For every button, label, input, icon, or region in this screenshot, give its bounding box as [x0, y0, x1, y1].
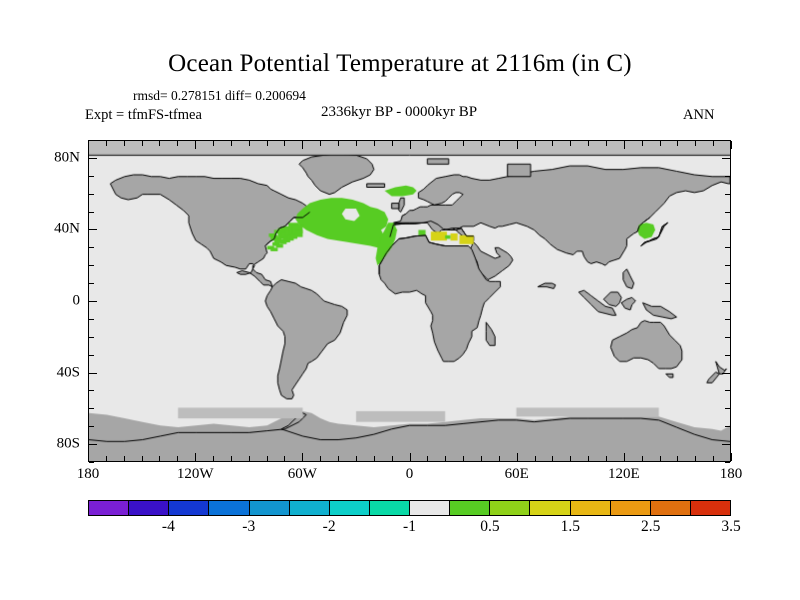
x-axis-tick — [106, 141, 107, 146]
x-axis-tick — [481, 141, 482, 146]
y-axis-tick — [89, 426, 94, 427]
colorbar-segment — [129, 501, 169, 515]
y-axis-tick — [722, 229, 730, 230]
y-axis-tick — [725, 176, 730, 177]
x-axis-tick — [642, 141, 643, 146]
x-axis-tick — [106, 456, 107, 461]
x-axis-tick — [124, 141, 125, 146]
y-axis-tick — [89, 212, 94, 213]
x-axis-tick — [570, 141, 571, 146]
y-axis-tick — [725, 212, 730, 213]
x-axis-tick — [410, 141, 411, 149]
x-axis-tick — [713, 456, 714, 461]
map-plot-area — [88, 140, 731, 462]
x-axis-tick — [588, 456, 589, 461]
colorbar-segment — [330, 501, 370, 515]
y-axis-tick — [89, 229, 97, 230]
x-axis-tick — [588, 141, 589, 146]
x-axis-label: 120E — [608, 466, 640, 483]
x-axis-tick — [213, 141, 214, 146]
x-axis-tick — [535, 456, 536, 461]
x-axis-tick — [356, 141, 357, 146]
x-axis-tick — [695, 456, 696, 461]
season-annotation: ANN — [683, 107, 714, 124]
y-axis-tick — [89, 373, 97, 374]
x-axis-tick — [231, 456, 232, 461]
x-axis-tick — [356, 456, 357, 461]
y-axis-tick — [89, 158, 97, 159]
y-axis-tick — [722, 158, 730, 159]
y-axis-tick — [725, 355, 730, 356]
x-axis-tick — [267, 141, 268, 146]
y-axis-label: 80N — [54, 149, 80, 166]
y-axis-tick — [725, 337, 730, 338]
colorbar-segment — [209, 501, 249, 515]
experiment-annotation: Expt = tfmFS-tfmea — [85, 107, 202, 124]
x-axis-tick — [410, 453, 411, 461]
x-axis-tick — [642, 456, 643, 461]
colorbar-segment — [370, 501, 410, 515]
y-axis-tick — [725, 194, 730, 195]
colorbar-segment — [530, 501, 570, 515]
y-axis-tick — [89, 301, 97, 302]
x-axis-tick — [142, 141, 143, 146]
x-axis-tick — [249, 141, 250, 146]
x-axis-label: 60E — [505, 466, 529, 483]
y-axis-tick — [725, 265, 730, 266]
x-axis-tick — [392, 141, 393, 146]
x-axis-label: 120W — [177, 466, 214, 483]
x-axis-tick — [606, 141, 607, 146]
x-axis-tick — [320, 141, 321, 146]
y-axis-tick — [89, 283, 94, 284]
colorbar-segment — [571, 501, 611, 515]
x-axis-tick — [195, 453, 196, 461]
x-axis-tick — [624, 141, 625, 149]
x-axis-tick — [284, 456, 285, 461]
colorbar-tick-label: -2 — [323, 518, 336, 536]
x-axis-tick — [535, 141, 536, 146]
period-annotation: 2336kyr BP - 0000kyr BP — [321, 104, 477, 121]
y-axis-tick — [89, 194, 94, 195]
x-axis-tick — [445, 456, 446, 461]
colorbar-tick-label: 3.5 — [721, 518, 740, 536]
y-axis-tick — [89, 319, 94, 320]
x-axis-tick — [249, 456, 250, 461]
x-axis-tick — [302, 141, 303, 149]
y-axis-label: 0 — [73, 293, 81, 310]
x-axis-tick — [338, 456, 339, 461]
x-axis-tick — [159, 456, 160, 461]
x-axis-tick — [284, 141, 285, 146]
x-axis-tick — [677, 456, 678, 461]
x-axis-tick — [731, 453, 732, 461]
x-axis-tick — [427, 141, 428, 146]
y-axis-label: 80S — [57, 436, 80, 453]
x-axis-tick — [552, 141, 553, 146]
map-canvas — [89, 141, 730, 461]
x-axis-tick — [231, 141, 232, 146]
x-axis-tick — [731, 141, 732, 149]
x-axis-tick — [517, 453, 518, 461]
x-axis-tick — [177, 141, 178, 146]
x-axis-tick — [517, 141, 518, 149]
y-axis-tick — [725, 408, 730, 409]
y-axis-tick — [725, 426, 730, 427]
x-axis-label: 180 — [77, 466, 100, 483]
colorbar-tick-label: 0.5 — [480, 518, 499, 536]
x-axis-tick — [677, 141, 678, 146]
x-axis-tick — [124, 456, 125, 461]
colorbar-tick-label: -4 — [162, 518, 175, 536]
y-axis-tick — [89, 355, 94, 356]
colorbar — [88, 500, 731, 516]
y-axis-tick — [89, 337, 94, 338]
y-axis-tick — [725, 247, 730, 248]
colorbar-segment — [611, 501, 651, 515]
y-axis-tick — [725, 283, 730, 284]
x-axis-tick — [463, 456, 464, 461]
x-axis-tick — [177, 456, 178, 461]
x-axis-tick — [392, 456, 393, 461]
x-axis-tick — [570, 456, 571, 461]
colorbar-segment — [89, 501, 129, 515]
y-axis-tick — [725, 140, 730, 141]
x-axis-tick — [338, 141, 339, 146]
x-axis-tick — [374, 141, 375, 146]
x-axis-tick — [213, 456, 214, 461]
x-axis-tick — [88, 453, 89, 461]
x-axis-tick — [267, 456, 268, 461]
colorbar-segment — [651, 501, 691, 515]
x-axis-tick — [374, 456, 375, 461]
y-axis-tick — [89, 444, 97, 445]
y-axis-tick — [89, 265, 94, 266]
y-axis-label: 40N — [54, 221, 80, 238]
colorbar-segment — [490, 501, 530, 515]
x-axis-tick — [481, 456, 482, 461]
colorbar-tick-label: 1.5 — [561, 518, 580, 536]
colorbar-strip — [88, 500, 731, 516]
y-axis-tick — [725, 462, 730, 463]
y-axis-tick — [89, 247, 94, 248]
x-axis-tick — [552, 456, 553, 461]
y-axis-tick — [89, 140, 94, 141]
y-axis-label: 40S — [57, 364, 80, 381]
y-axis-tick — [89, 408, 94, 409]
page-title: Ocean Potential Temperature at 2116m (in… — [0, 50, 800, 78]
colorbar-segment — [410, 501, 450, 515]
colorbar-tick-label: -3 — [242, 518, 255, 536]
colorbar-segment — [169, 501, 209, 515]
x-axis-tick — [463, 141, 464, 146]
y-axis-tick — [89, 462, 94, 463]
x-axis-tick — [499, 456, 500, 461]
y-axis-tick — [89, 176, 94, 177]
x-axis-tick — [88, 141, 89, 149]
x-axis-label: 0 — [406, 466, 414, 483]
x-axis-tick — [499, 141, 500, 146]
y-axis-tick — [725, 319, 730, 320]
x-axis-tick — [660, 456, 661, 461]
x-axis-tick — [159, 141, 160, 146]
colorbar-segment — [290, 501, 330, 515]
x-axis-tick — [320, 456, 321, 461]
colorbar-segment — [691, 501, 730, 515]
x-axis-tick — [195, 141, 196, 149]
x-axis-tick — [713, 141, 714, 146]
colorbar-segment — [250, 501, 290, 515]
x-axis-tick — [624, 453, 625, 461]
y-axis-tick — [722, 301, 730, 302]
y-axis-tick — [89, 390, 94, 391]
x-axis-tick — [302, 453, 303, 461]
colorbar-tick-label: -1 — [403, 518, 416, 536]
y-axis-tick — [725, 390, 730, 391]
y-axis-tick — [722, 373, 730, 374]
x-axis-tick — [695, 141, 696, 146]
x-axis-tick — [606, 456, 607, 461]
x-axis-label: 60W — [288, 466, 317, 483]
x-axis-tick — [142, 456, 143, 461]
colorbar-segment — [450, 501, 490, 515]
x-axis-tick — [427, 456, 428, 461]
x-axis-tick — [445, 141, 446, 146]
x-axis-label: 180 — [720, 466, 743, 483]
y-axis-tick — [722, 444, 730, 445]
colorbar-tick-label: 2.5 — [641, 518, 660, 536]
rmsd-annotation: rmsd= 0.278151 diff= 0.200694 — [133, 88, 306, 104]
x-axis-tick — [660, 141, 661, 146]
